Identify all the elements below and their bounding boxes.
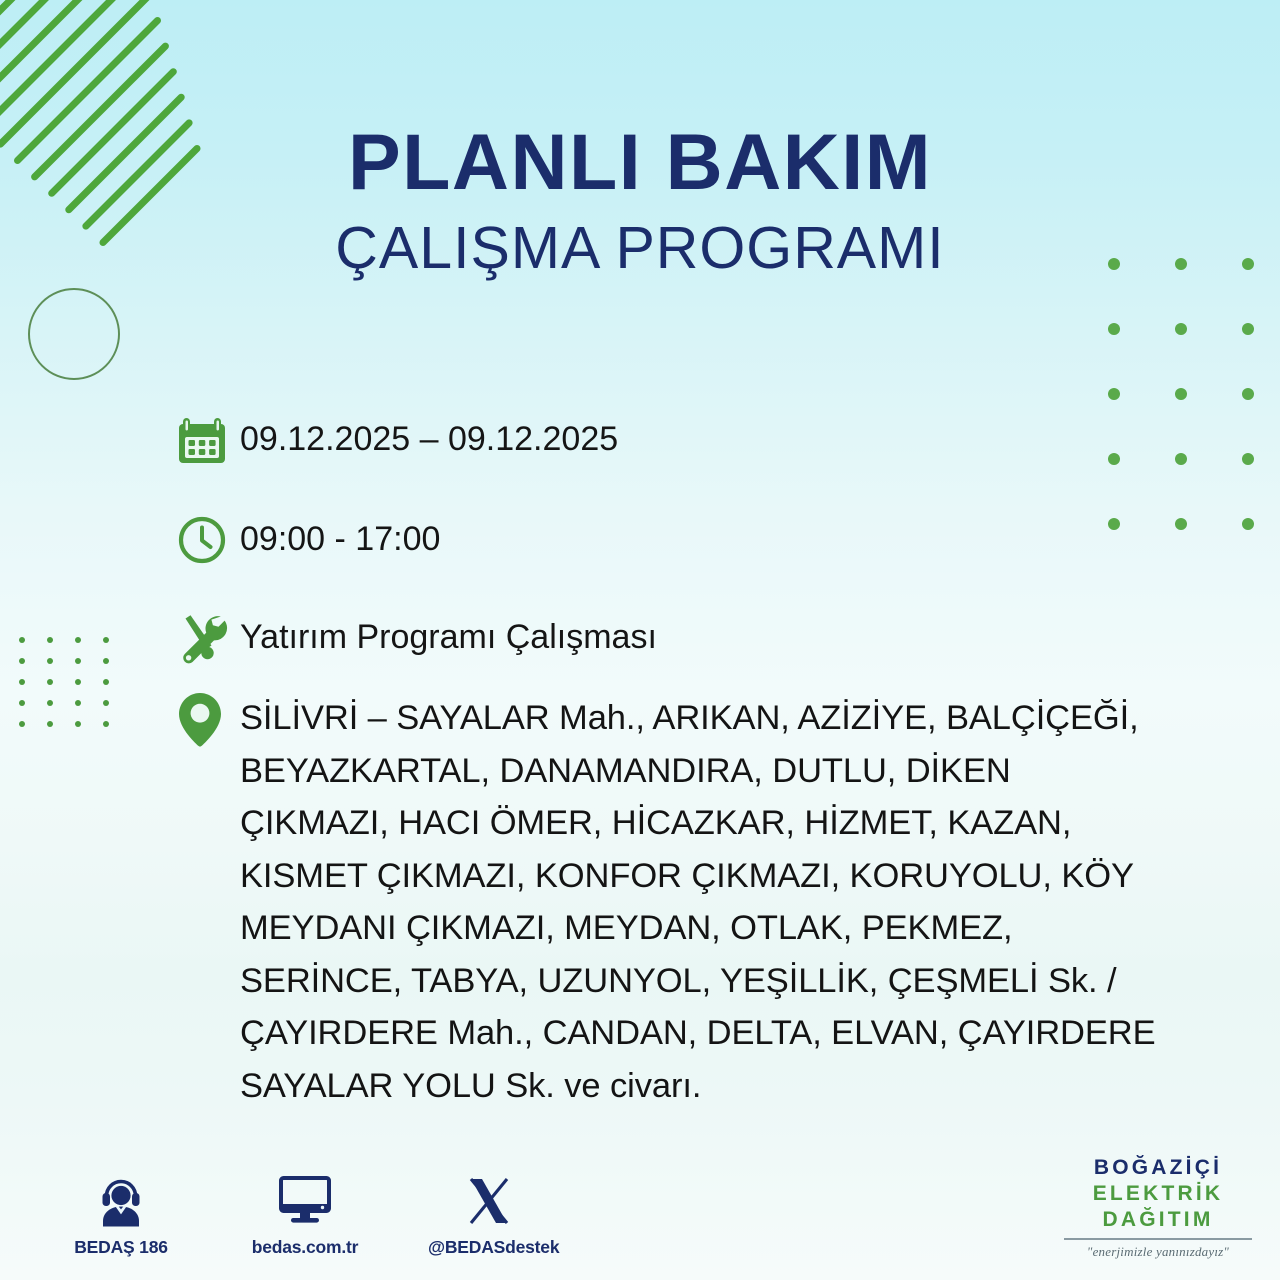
location-pin-icon xyxy=(176,686,240,754)
location-line: ÇAYIRDERE Mah., CANDAN, DELTA, ELVAN, ÇA… xyxy=(240,1007,1156,1060)
info-row-work-type: Yatırım Programı Çalışması xyxy=(176,604,1240,686)
decorative-dot xyxy=(47,679,53,685)
info-row-time: 09:00 - 17:00 xyxy=(176,506,1240,604)
decorative-dot xyxy=(47,721,53,727)
logo-tagline: "enerjimizle yanınızdayız" xyxy=(1062,1244,1254,1260)
decorative-dot xyxy=(19,658,25,664)
location-text: SİLİVRİ – SAYALAR Mah., ARIKAN, AZİZİYE,… xyxy=(240,686,1156,1112)
decorative-dot xyxy=(19,637,25,643)
clock-icon xyxy=(176,506,240,574)
footer-contact-bar: BEDAŞ 186 bedas.com.tr xyxy=(60,1172,550,1258)
decorative-dot xyxy=(1108,388,1120,400)
decorative-dot xyxy=(103,637,109,643)
decorative-dot xyxy=(75,679,81,685)
info-row-date: 09.12.2025 – 09.12.2025 xyxy=(176,406,1240,506)
decorative-stripe xyxy=(0,0,131,100)
decorative-dot xyxy=(103,679,109,685)
call-center-agent-icon xyxy=(60,1172,182,1228)
decorative-dot xyxy=(47,637,53,643)
page-title: PLANLI BAKIM xyxy=(0,122,1280,201)
decorative-dot xyxy=(19,679,25,685)
logo-line-elektrik: ELEKTRİK xyxy=(1062,1181,1254,1207)
calendar-icon xyxy=(176,406,240,474)
logo-line-bogazici: BOĞAZİÇİ xyxy=(1062,1155,1254,1181)
poster-canvas: PLANLI BAKIM ÇALIŞMA PROGRAMI xyxy=(0,0,1280,1280)
decorative-dot xyxy=(75,700,81,706)
x-twitter-icon xyxy=(428,1172,550,1228)
time-range-text: 09:00 - 17:00 xyxy=(240,506,440,556)
page-header: PLANLI BAKIM ÇALIŞMA PROGRAMI xyxy=(0,122,1280,278)
decorative-dot xyxy=(1242,518,1254,530)
decorative-dot xyxy=(19,721,25,727)
footer-label-phone: BEDAŞ 186 xyxy=(60,1237,182,1258)
decorative-dot xyxy=(75,658,81,664)
decorative-dot xyxy=(47,700,53,706)
decorative-dot xyxy=(103,700,109,706)
decorative-dot xyxy=(103,721,109,727)
location-line: BEYAZKARTAL, DANAMANDIRA, DUTLU, DİKEN xyxy=(240,745,1156,798)
footer-label-website: bedas.com.tr xyxy=(244,1237,366,1258)
location-line: ÇIKMAZI, HACI ÖMER, HİCAZKAR, HİZMET, KA… xyxy=(240,797,1156,850)
tools-icon xyxy=(176,604,240,672)
bedas-logo: BOĞAZİÇİ ELEKTRİK DAĞITIM "enerjimizle y… xyxy=(1062,1155,1254,1260)
decorative-dot xyxy=(47,658,53,664)
footer-label-x: @BEDASdestek xyxy=(428,1237,550,1258)
date-range-text: 09.12.2025 – 09.12.2025 xyxy=(240,406,618,456)
dot-grid-left-decoration xyxy=(19,637,131,742)
location-line: SAYALAR YOLU Sk. ve civarı. xyxy=(240,1060,1156,1113)
footer-item-phone[interactable]: BEDAŞ 186 xyxy=(60,1172,182,1258)
logo-divider xyxy=(1064,1238,1252,1240)
footer-item-x[interactable]: @BEDASdestek xyxy=(428,1172,550,1258)
decorative-dot xyxy=(75,721,81,727)
decorative-dot xyxy=(1108,323,1120,335)
decorative-stripe xyxy=(0,0,147,133)
footer-item-website[interactable]: bedas.com.tr xyxy=(244,1172,366,1258)
page-subtitle: ÇALIŞMA PROGRAMI xyxy=(0,219,1280,278)
decorative-dot xyxy=(1242,453,1254,465)
decorative-dot xyxy=(75,637,81,643)
decorative-dot xyxy=(1175,323,1187,335)
decorative-dot xyxy=(103,658,109,664)
decorative-dot xyxy=(19,700,25,706)
decorative-dot xyxy=(1242,388,1254,400)
work-type-text: Yatırım Programı Çalışması xyxy=(240,604,657,654)
logo-line-dagitim: DAĞITIM xyxy=(1062,1207,1254,1233)
decorative-stripe xyxy=(0,0,139,116)
outage-info-block: 09.12.2025 – 09.12.2025 09:00 - 17:00 xyxy=(176,406,1240,1112)
location-line: MEYDANI ÇIKMAZI, MEYDAN, OTLAK, PEKMEZ, xyxy=(240,902,1156,955)
monitor-icon xyxy=(244,1172,366,1228)
decorative-dot xyxy=(1175,388,1187,400)
info-row-location: SİLİVRİ – SAYALAR Mah., ARIKAN, AZİZİYE,… xyxy=(176,686,1240,1112)
decorative-dot xyxy=(1242,323,1254,335)
location-line: SERİNCE, TABYA, UZUNYOL, YEŞİLLİK, ÇEŞME… xyxy=(240,955,1156,1008)
decorative-stripe xyxy=(0,0,123,83)
circle-outline-decoration xyxy=(28,288,120,380)
location-line: SİLİVRİ – SAYALAR Mah., ARIKAN, AZİZİYE,… xyxy=(240,692,1156,745)
location-line: KISMET ÇIKMAZI, KONFOR ÇIKMAZI, KORUYOLU… xyxy=(240,850,1156,903)
